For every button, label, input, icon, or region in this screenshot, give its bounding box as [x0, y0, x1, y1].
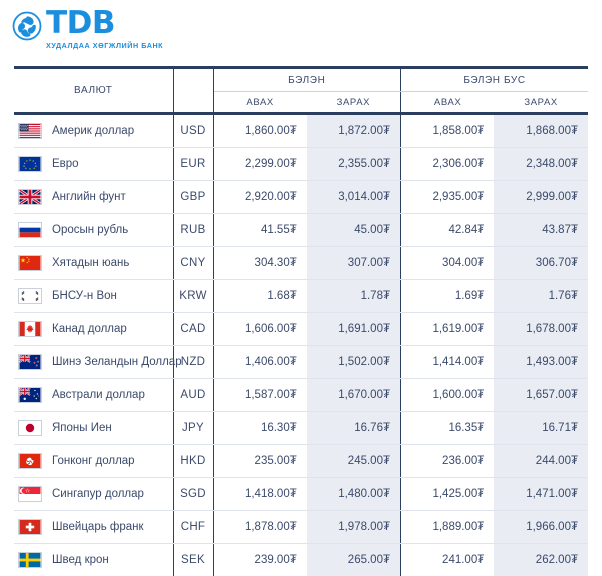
rate-noncash-sell: 1.76₮ — [494, 280, 588, 313]
currency-name: Швейцарь франк — [52, 521, 144, 533]
table-row: БНСУ-н ВонKRW1.68₮1.78₮1.69₮1.76₮ — [14, 280, 588, 313]
currency-code: EUR — [173, 148, 213, 181]
rate-noncash-sell: 262.00₮ — [494, 544, 588, 576]
currency-code: CAD — [173, 313, 213, 346]
header-code — [173, 68, 213, 114]
currency-code: CHF — [173, 511, 213, 544]
rate-cash-buy: 1,406.00₮ — [213, 346, 307, 379]
rate-cash-buy: 1,878.00₮ — [213, 511, 307, 544]
table-row: Швейцарь франкCHF1,878.00₮1,978.00₮1,889… — [14, 511, 588, 544]
rate-noncash-buy: 2,935.00₮ — [401, 181, 495, 214]
currency-code: GBP — [173, 181, 213, 214]
currency-name: Хятадын юань — [52, 257, 129, 269]
currency-code: KRW — [173, 280, 213, 313]
table-row: Канад долларCAD1,606.00₮1,691.00₮1,619.0… — [14, 313, 588, 346]
currency-name-cell: Австрали доллар — [14, 379, 173, 412]
flag-ru-icon — [18, 222, 42, 238]
rate-cash-sell: 1,502.00₮ — [307, 346, 401, 379]
rate-noncash-buy: 1,600.00₮ — [401, 379, 495, 412]
rate-noncash-sell: 1,657.00₮ — [494, 379, 588, 412]
currency-name-cell: БНСУ-н Вон — [14, 280, 173, 313]
rate-cash-buy: 1.68₮ — [213, 280, 307, 313]
header-currency: ВАЛЮТ — [14, 68, 173, 114]
currency-name: Австрали доллар — [52, 389, 145, 401]
rate-noncash-buy: 42.84₮ — [401, 214, 495, 247]
rate-noncash-buy: 236.00₮ — [401, 445, 495, 478]
table-row: ЕвроEUR2,299.00₮2,355.00₮2,306.00₮2,348.… — [14, 148, 588, 181]
flag-gb-icon — [18, 189, 42, 205]
table-row: Хятадын юаньCNY304.30₮307.00₮304.00₮306.… — [14, 247, 588, 280]
currency-name-cell: Оросын рубль — [14, 214, 173, 247]
rate-cash-sell: 1,978.00₮ — [307, 511, 401, 544]
currency-name-cell: Хятадын юань — [14, 247, 173, 280]
currency-name-cell: Гонконг доллар — [14, 445, 173, 478]
rate-cash-sell: 1,670.00₮ — [307, 379, 401, 412]
rate-noncash-buy: 304.00₮ — [401, 247, 495, 280]
rate-noncash-buy: 241.00₮ — [401, 544, 495, 576]
rate-cash-sell: 3,014.00₮ — [307, 181, 401, 214]
currency-name-cell: Швед крон — [14, 544, 173, 576]
rate-cash-sell: 16.76₮ — [307, 412, 401, 445]
rate-cash-sell: 1.78₮ — [307, 280, 401, 313]
currency-code: HKD — [173, 445, 213, 478]
rate-noncash-sell: 2,999.00₮ — [494, 181, 588, 214]
currency-code: CNY — [173, 247, 213, 280]
rate-noncash-buy: 1,889.00₮ — [401, 511, 495, 544]
table-row: Сингапур долларSGD1,418.00₮1,480.00₮1,42… — [14, 478, 588, 511]
currency-name-cell: Евро — [14, 148, 173, 181]
rate-noncash-sell: 244.00₮ — [494, 445, 588, 478]
rate-cash-sell: 45.00₮ — [307, 214, 401, 247]
rate-cash-buy: 2,299.00₮ — [213, 148, 307, 181]
currency-name: Сингапур доллар — [52, 488, 144, 500]
exchange-rates-table: ВАЛЮТ БЭЛЭН БЭЛЭН БУС АВАХ ЗАРАХ АВАХ ЗА… — [14, 66, 588, 576]
rate-cash-buy: 41.55₮ — [213, 214, 307, 247]
header-noncash-buy: АВАХ — [401, 92, 495, 114]
tdb-logo[interactable]: TDB ХУДАЛДАА ХӨГЖЛИЙН БАНК — [12, 8, 163, 50]
rate-noncash-buy: 1,425.00₮ — [401, 478, 495, 511]
header-group-cash: БЭЛЭН — [213, 68, 401, 92]
table-row: Швед кронSEK239.00₮265.00₮241.00₮262.00₮ — [14, 544, 588, 576]
rate-noncash-buy: 2,306.00₮ — [401, 148, 495, 181]
currency-name: Оросын рубль — [52, 224, 128, 236]
flag-cn-icon — [18, 255, 42, 271]
flag-sg-icon — [18, 486, 42, 502]
table-row: Австрали долларAUD1,587.00₮1,670.00₮1,60… — [14, 379, 588, 412]
rate-noncash-sell: 306.70₮ — [494, 247, 588, 280]
exchange-rates-page: TDB ХУДАЛДАА ХӨГЖЛИЙН БАНК ВАЛЮТ БЭЛЭН Б… — [0, 0, 602, 558]
currency-name-cell: Швейцарь франк — [14, 511, 173, 544]
rate-noncash-buy: 1.69₮ — [401, 280, 495, 313]
header-group-noncash: БЭЛЭН БУС — [401, 68, 589, 92]
currency-name: Японы Иен — [52, 422, 112, 434]
rate-cash-buy: 235.00₮ — [213, 445, 307, 478]
rate-noncash-sell: 1,868.00₮ — [494, 114, 588, 148]
flag-us-icon — [18, 123, 42, 139]
rate-cash-sell: 245.00₮ — [307, 445, 401, 478]
table-body: Америк долларUSD1,860.00₮1,872.00₮1,858.… — [14, 114, 588, 576]
currency-name: Евро — [52, 158, 79, 170]
flag-se-icon — [18, 552, 42, 568]
rate-cash-sell: 1,872.00₮ — [307, 114, 401, 148]
rate-noncash-sell: 2,348.00₮ — [494, 148, 588, 181]
flag-ch-icon — [18, 519, 42, 535]
brand-subtitle: ХУДАЛДАА ХӨГЖЛИЙН БАНК — [46, 41, 163, 50]
flag-eu-icon — [18, 156, 42, 172]
header-cash-sell: ЗАРАХ — [307, 92, 401, 114]
rate-cash-buy: 239.00₮ — [213, 544, 307, 576]
currency-name: БНСУ-н Вон — [52, 290, 117, 302]
currency-code: SEK — [173, 544, 213, 576]
rate-cash-buy: 1,418.00₮ — [213, 478, 307, 511]
rate-noncash-sell: 43.87₮ — [494, 214, 588, 247]
flag-ca-icon — [18, 321, 42, 337]
table-row: Оросын рубльRUB41.55₮45.00₮42.84₮43.87₮ — [14, 214, 588, 247]
rate-cash-sell: 2,355.00₮ — [307, 148, 401, 181]
flag-nz-icon — [18, 354, 42, 370]
rate-noncash-sell: 1,493.00₮ — [494, 346, 588, 379]
rate-cash-sell: 1,691.00₮ — [307, 313, 401, 346]
currency-name-cell: Сингапур доллар — [14, 478, 173, 511]
rate-noncash-sell: 1,678.00₮ — [494, 313, 588, 346]
rate-cash-sell: 265.00₮ — [307, 544, 401, 576]
currency-code: USD — [173, 114, 213, 148]
currency-code: SGD — [173, 478, 213, 511]
currency-name-cell: Америк доллар — [14, 114, 173, 148]
header-cash-buy: АВАХ — [213, 92, 307, 114]
currency-name: Шинэ Зеландын Доллар — [52, 356, 182, 368]
rate-cash-buy: 16.30₮ — [213, 412, 307, 445]
table-row: Шинэ Зеландын ДолларNZD1,406.00₮1,502.00… — [14, 346, 588, 379]
currency-name: Канад доллар — [52, 323, 127, 335]
currency-code: JPY — [173, 412, 213, 445]
currency-name-cell: Японы Иен — [14, 412, 173, 445]
currency-name: Гонконг доллар — [52, 455, 135, 467]
table-row: Английн фунтGBP2,920.00₮3,014.00₮2,935.0… — [14, 181, 588, 214]
rate-cash-buy: 1,587.00₮ — [213, 379, 307, 412]
rate-noncash-sell: 16.71₮ — [494, 412, 588, 445]
rate-cash-sell: 307.00₮ — [307, 247, 401, 280]
currency-name: Америк доллар — [52, 125, 134, 137]
rate-noncash-buy: 1,414.00₮ — [401, 346, 495, 379]
currency-name: Швед крон — [52, 554, 109, 566]
rate-cash-sell: 1,480.00₮ — [307, 478, 401, 511]
currency-name-cell: Канад доллар — [14, 313, 173, 346]
table-row: Японы ИенJPY16.30₮16.76₮16.35₮16.71₮ — [14, 412, 588, 445]
currency-name: Английн фунт — [52, 191, 126, 203]
table-row: Америк долларUSD1,860.00₮1,872.00₮1,858.… — [14, 114, 588, 148]
flag-jp-icon — [18, 420, 42, 436]
flag-au-icon — [18, 387, 42, 403]
header-noncash-sell: ЗАРАХ — [494, 92, 588, 114]
flag-hk-icon — [18, 453, 42, 469]
flag-kr-icon — [18, 288, 42, 304]
rate-noncash-buy: 16.35₮ — [401, 412, 495, 445]
brand-title: TDB — [46, 8, 163, 38]
currency-code: AUD — [173, 379, 213, 412]
rate-noncash-buy: 1,619.00₮ — [401, 313, 495, 346]
rate-noncash-buy: 1,858.00₮ — [401, 114, 495, 148]
table-head: ВАЛЮТ БЭЛЭН БЭЛЭН БУС АВАХ ЗАРАХ АВАХ ЗА… — [14, 68, 588, 114]
tdb-pinwheel-icon — [12, 11, 42, 41]
rate-cash-buy: 2,920.00₮ — [213, 181, 307, 214]
table-row: Гонконг долларHKD235.00₮245.00₮236.00₮24… — [14, 445, 588, 478]
currency-code: RUB — [173, 214, 213, 247]
rate-noncash-sell: 1,966.00₮ — [494, 511, 588, 544]
rate-cash-buy: 1,860.00₮ — [213, 114, 307, 148]
currency-name-cell: Английн фунт — [14, 181, 173, 214]
rate-cash-buy: 1,606.00₮ — [213, 313, 307, 346]
rate-cash-buy: 304.30₮ — [213, 247, 307, 280]
rate-noncash-sell: 1,471.00₮ — [494, 478, 588, 511]
currency-name-cell: Шинэ Зеландын Доллар — [14, 346, 173, 379]
